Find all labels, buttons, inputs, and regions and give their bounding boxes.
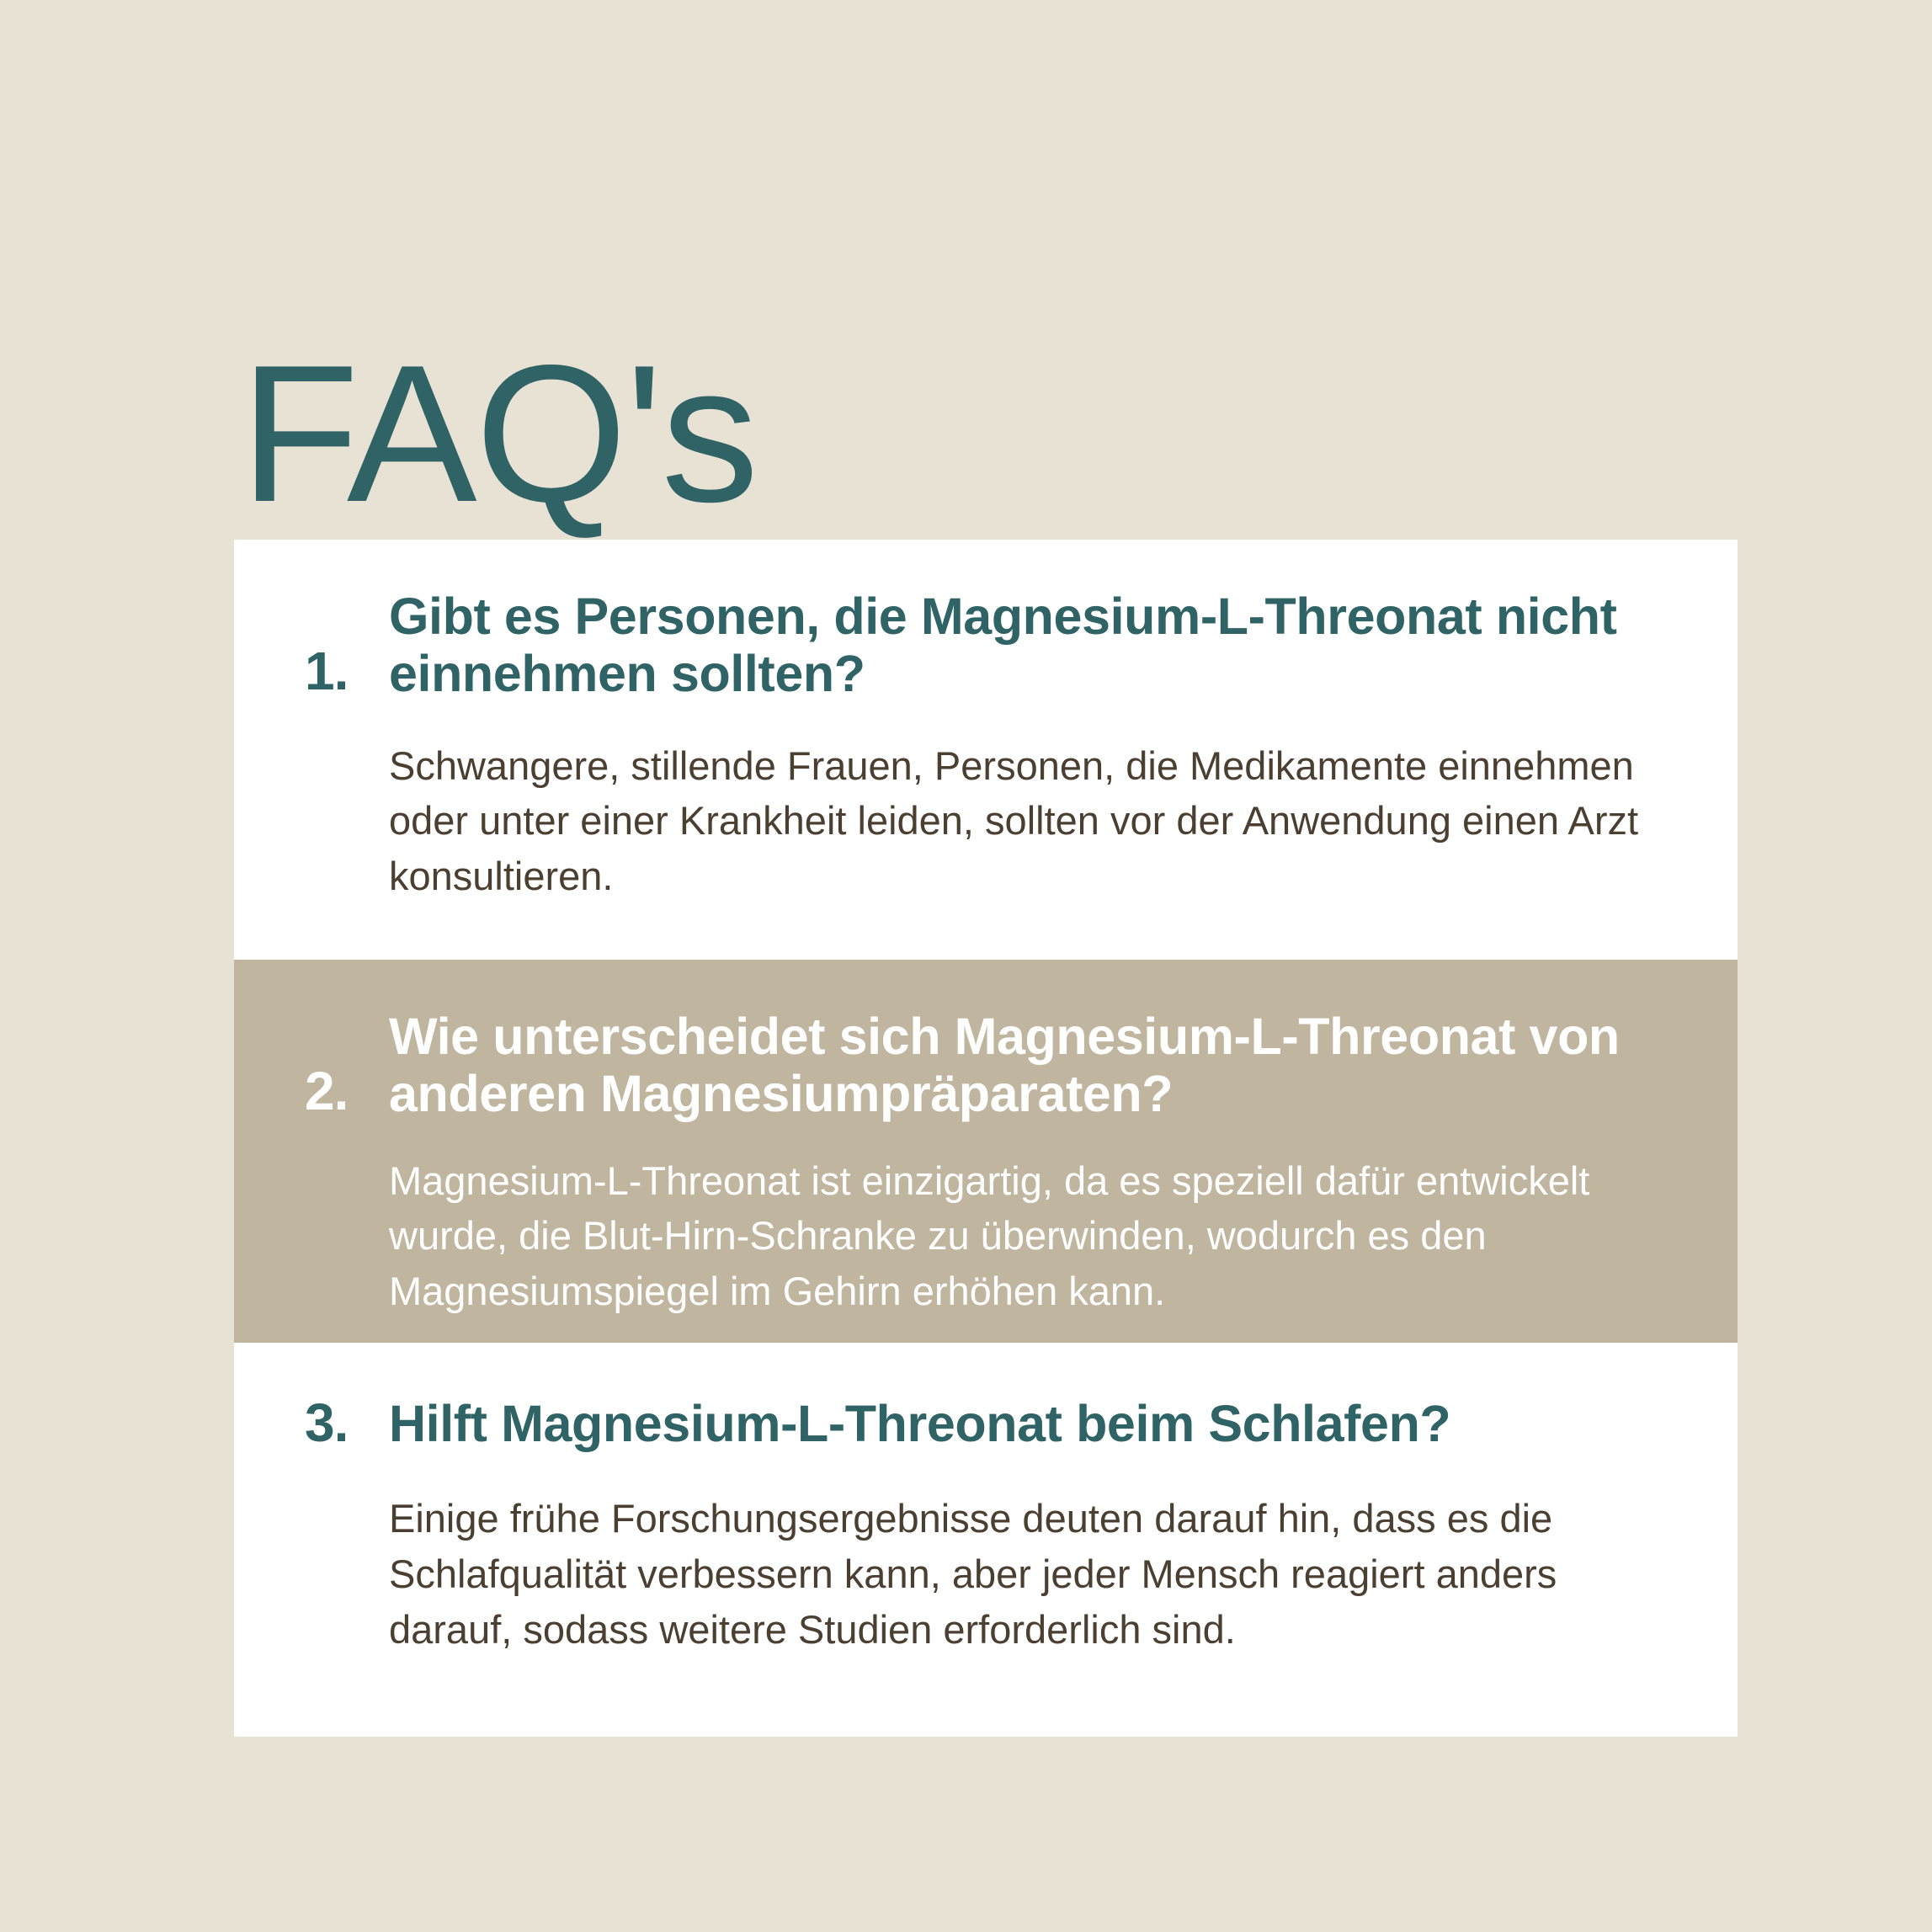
faq-question-row-1: 1. Gibt es Personen, die Magnesium-L-Thr… [305,588,1662,703]
faq-question-2: Wie unterscheidet sich Magnesium-L-Threo… [389,1008,1662,1123]
faq-page: FAQ's 1. Gibt es Personen, die Magnesium… [0,0,1932,1932]
faq-question-1: Gibt es Personen, die Magnesium-L-Threon… [389,588,1662,703]
faq-question-3: Hilft Magnesium-L-Threonat beim Schlafen… [389,1395,1662,1452]
faq-question-row-2: 2. Wie unterscheidet sich Magnesium-L-Th… [305,1008,1662,1123]
faq-number-1: 1. [305,644,389,703]
faq-item-3[interactable]: 3. Hilft Magnesium-L-Threonat beim Schla… [234,1343,1738,1737]
faq-number-2: 2. [305,1064,389,1123]
faq-number-3: 3. [305,1396,389,1450]
faq-answer-2: Magnesium-L-Threonat ist einzigartig, da… [389,1153,1662,1319]
page-title: FAQ's [240,337,757,532]
faq-card: 1. Gibt es Personen, die Magnesium-L-Thr… [234,540,1738,1737]
faq-answer-3: Einige frühe Forschungsergebnisse deuten… [389,1491,1647,1657]
faq-item-2[interactable]: 2. Wie unterscheidet sich Magnesium-L-Th… [234,960,1738,1343]
faq-question-row-3: 3. Hilft Magnesium-L-Threonat beim Schla… [305,1395,1662,1452]
faq-item-1[interactable]: 1. Gibt es Personen, die Magnesium-L-Thr… [234,540,1738,960]
faq-answer-1: Schwangere, stillende Frauen, Personen, … [389,738,1647,904]
